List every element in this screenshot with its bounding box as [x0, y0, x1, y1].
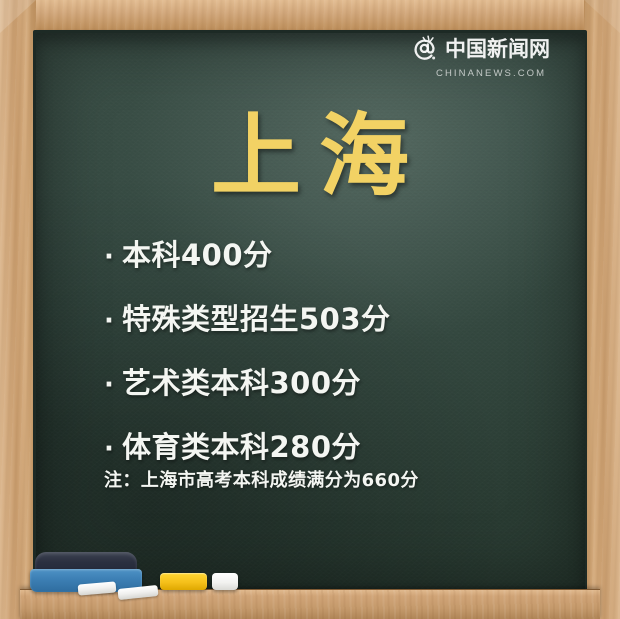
watermark-url: CHINANEWS.COM — [436, 68, 546, 79]
bullet-icon: · — [104, 308, 122, 334]
at-sign-icon — [410, 34, 440, 64]
watermark-logo: 中国新闻网 CHINANEWS.COM — [410, 34, 558, 79]
white-chalk-box — [212, 573, 238, 590]
yellow-chalk-box — [160, 573, 207, 590]
bullet-icon: · — [104, 436, 122, 462]
list-item: · 本科400分 — [104, 232, 544, 274]
list-item: · 特殊类型招生503分 — [104, 296, 544, 338]
list-item-label: 艺术类本科300分 — [122, 360, 361, 402]
list-item-label: 特殊类型招生503分 — [122, 296, 391, 338]
score-list: · 本科400分 · 特殊类型招生503分 · 艺术类本科300分 · 体育类本… — [104, 232, 544, 488]
list-item: · 艺术类本科300分 — [104, 360, 544, 402]
frame-top-rail — [0, 0, 620, 33]
ledge-grain-texture — [20, 590, 600, 619]
list-item-label: 本科400分 — [122, 232, 273, 274]
list-item-label: 体育类本科280分 — [122, 424, 361, 466]
page-title: 上海 — [0, 108, 620, 205]
bullet-icon: · — [104, 372, 122, 398]
footnote: 注：上海市高考本科成绩满分为660分 — [104, 466, 419, 492]
poster-root: 中国新闻网 CHINANEWS.COM 上海 · 本科400分 · 特殊类型招生… — [0, 0, 620, 619]
chalk-ledge — [20, 589, 600, 619]
watermark-logo-row: 中国新闻网 — [410, 34, 550, 64]
frame-right-rail — [584, 0, 620, 619]
bullet-icon: · — [104, 244, 122, 270]
watermark-name: 中国新闻网 — [445, 39, 550, 60]
list-item: · 体育类本科280分 — [104, 424, 544, 466]
frame-left-rail — [0, 0, 36, 619]
